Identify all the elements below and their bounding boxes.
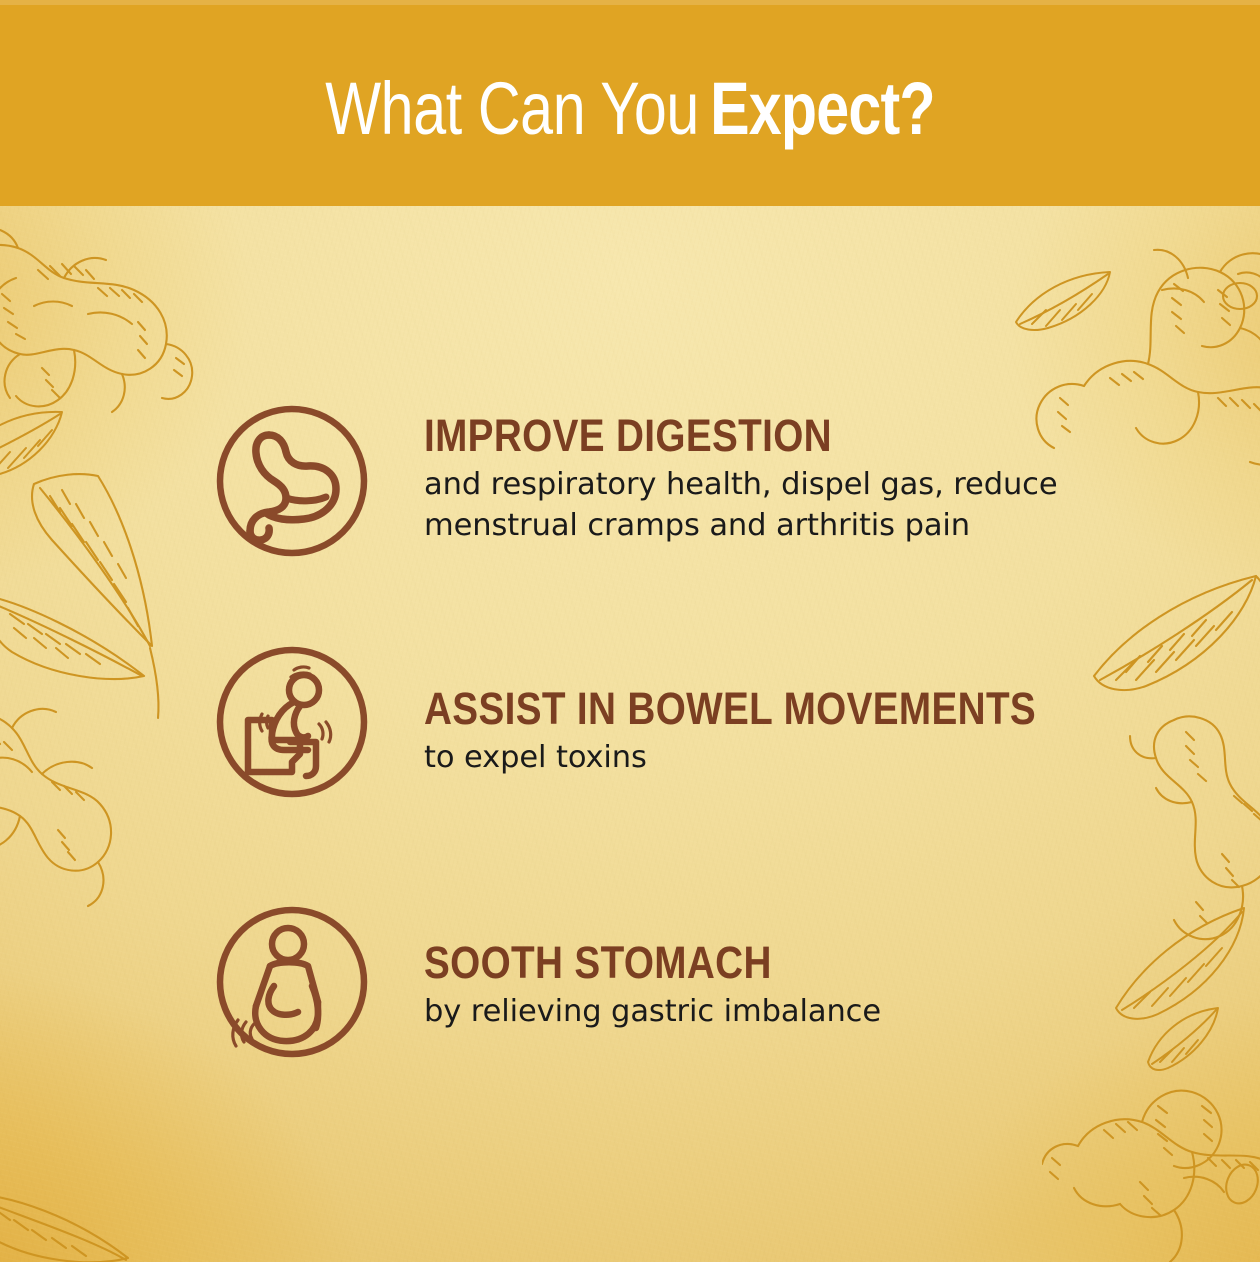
benefit-text: SOOTH STOMACH by relieving gastric imbal… xyxy=(424,906,881,1033)
stomach-icon xyxy=(212,401,372,561)
benefits-list: IMPROVE DIGESTION and respiratory health… xyxy=(0,206,1260,1262)
page-title-light: What Can You xyxy=(325,67,699,150)
benefit-title: SOOTH STOMACH xyxy=(424,940,817,986)
benefit-text: ASSIST IN BOWEL MOVEMENTS to expel toxin… xyxy=(424,646,1136,779)
page-title: What Can YouExpect? xyxy=(325,72,935,146)
header-band: What Can YouExpect? xyxy=(0,0,1260,206)
page-title-bold: Expect? xyxy=(710,67,935,150)
benefit-description: to expel toxins xyxy=(424,738,1136,779)
person-holding-stomach-icon xyxy=(212,902,372,1062)
benefit-title: ASSIST IN BOWEL MOVEMENTS xyxy=(424,686,1036,732)
benefit-title: IMPROVE DIGESTION xyxy=(424,413,1060,459)
list-item: ASSIST IN BOWEL MOVEMENTS to expel toxin… xyxy=(212,646,1136,802)
benefit-description: and respiratory health, dispel gas, redu… xyxy=(424,465,1164,547)
benefit-text: IMPROVE DIGESTION and respiratory health… xyxy=(424,401,1164,547)
infographic-root: What Can YouExpect? IMPROVE DIGESTION an… xyxy=(0,0,1260,1262)
list-item: IMPROVE DIGESTION and respiratory health… xyxy=(212,401,1164,561)
list-item: SOOTH STOMACH by relieving gastric imbal… xyxy=(212,906,881,1062)
benefit-description: by relieving gastric imbalance xyxy=(424,992,881,1033)
person-on-toilet-icon xyxy=(212,642,372,802)
